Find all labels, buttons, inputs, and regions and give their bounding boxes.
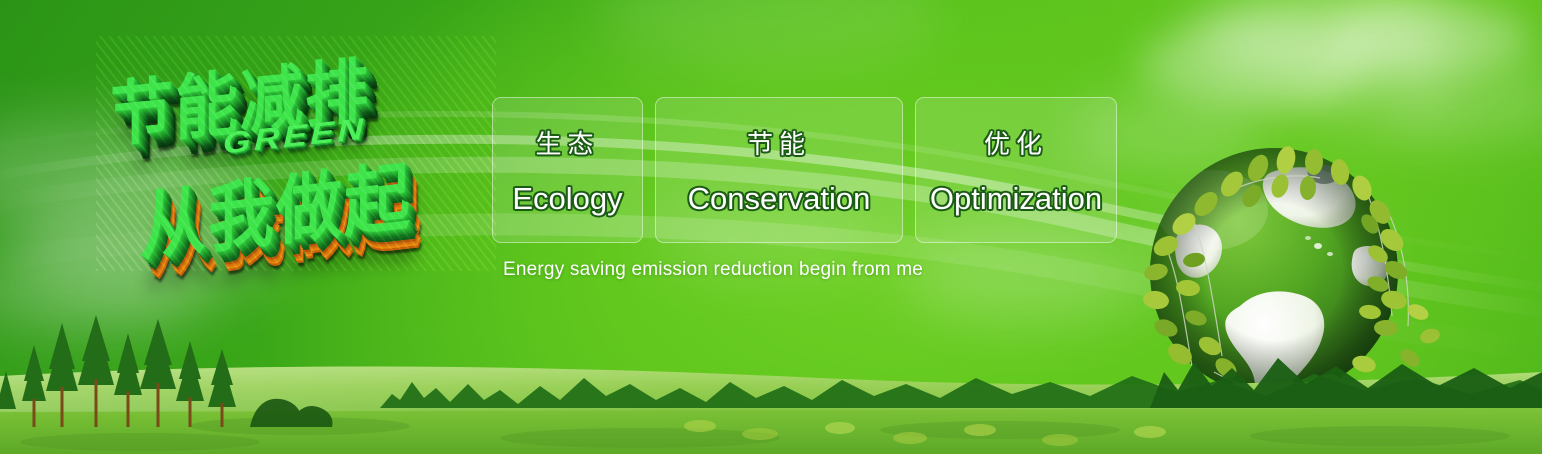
card-title-en: Ecology — [512, 181, 622, 217]
feature-card-optimization[interactable]: 优化 Optimization — [915, 97, 1117, 243]
feature-card-conservation[interactable]: 节能 Conservation — [655, 97, 903, 243]
ivy-covered-earth-globe — [1122, 120, 1452, 430]
feature-card-ecology[interactable]: 生态 Ecology — [492, 97, 643, 243]
card-title-cn: 节能 — [747, 124, 811, 161]
card-title-en: Optimization — [930, 181, 1102, 217]
feature-card-row: 生态 Ecology 节能 Conservation 优化 Optimizati… — [492, 97, 1117, 243]
eco-banner: 节能减排 GREEN 从我做起 生态 Ecology 节能 Conservati… — [0, 0, 1542, 454]
card-title-cn: 生态 — [535, 124, 599, 161]
tagline: Energy saving emission reduction begin f… — [503, 259, 923, 281]
title-line-bottom: 从我做起 — [140, 136, 412, 276]
card-title-cn: 优化 — [984, 124, 1048, 161]
pine-tree-cluster — [0, 315, 340, 430]
card-title-en: Conservation — [688, 181, 871, 217]
title-artwork: 节能减排 GREEN 从我做起 — [96, 36, 496, 271]
